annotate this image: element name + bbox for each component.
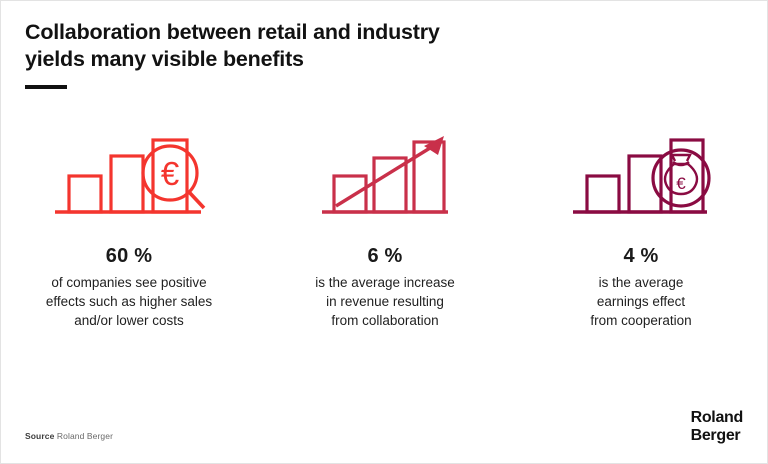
svg-text:€: € [161, 155, 179, 192]
logo-line-1: Roland [691, 409, 743, 427]
svg-text:€: € [676, 174, 686, 193]
slide-canvas: Collaboration between retail and industr… [0, 0, 768, 464]
page-title: Collaboration between retail and industr… [25, 19, 625, 73]
bar-chart-growth-arrow-icon [320, 127, 450, 229]
roland-berger-logo: Roland Berger [691, 409, 743, 445]
source-note: Source Roland Berger [25, 431, 113, 441]
stat-card-3: € 4 % is the average earnings effect fro… [513, 127, 768, 330]
stat-description-1: of companies see positive effects such a… [46, 273, 212, 330]
title-underline-rule [25, 85, 67, 89]
stats-row: € 60 % of companies see positive effects… [1, 127, 768, 330]
source-label: Source [25, 431, 54, 441]
stat-value-1: 60 % [106, 245, 152, 267]
stat-card-1: € 60 % of companies see positive effects… [1, 127, 257, 330]
stat-description-3: is the average earnings effect from coop… [590, 273, 691, 330]
source-value: Roland Berger [57, 431, 113, 441]
stat-card-2: 6 % is the average increase in revenue r… [257, 127, 513, 330]
bar-chart-magnifier-euro-icon: € [51, 127, 207, 229]
stat-value-3: 4 % [623, 245, 658, 267]
bar-chart-money-bag-euro-icon: € [571, 127, 711, 229]
logo-line-2: Berger [691, 427, 743, 445]
stat-description-2: is the average increase in revenue resul… [315, 273, 455, 330]
title-block: Collaboration between retail and industr… [25, 19, 625, 89]
stat-value-2: 6 % [367, 245, 402, 267]
